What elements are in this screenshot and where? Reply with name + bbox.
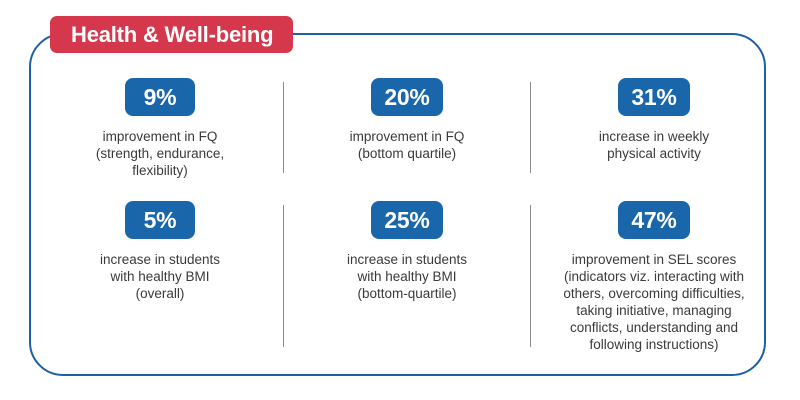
infographic-canvas: Health & Well-being 9% improvement in FQ… (0, 0, 800, 400)
stat-badge: 31% (618, 78, 689, 116)
stat-item-bmi-overall: 5% increase in students with healthy BMI… (44, 195, 276, 353)
stat-caption: improvement in FQ (strength, endurance, … (96, 128, 224, 179)
section-title-pill: Health & Well-being (50, 16, 293, 53)
stat-item-bmi-bottom-quartile: 25% increase in students with healthy BM… (291, 195, 523, 353)
section-title-text: Health & Well-being (71, 24, 273, 46)
stat-caption: improvement in FQ (bottom quartile) (350, 128, 465, 162)
stat-value: 31% (631, 86, 676, 109)
stat-item-weekly-physical-activity: 31% increase in weekly physical activity (538, 72, 770, 179)
stat-badge: 5% (125, 201, 195, 239)
stat-item-fq-overall: 9% improvement in FQ (strength, enduranc… (44, 72, 276, 179)
stat-badge: 9% (125, 78, 195, 116)
column-divider (530, 205, 531, 347)
stat-caption: increase in weekly physical activity (599, 128, 709, 162)
stat-value: 9% (144, 86, 177, 109)
stat-badge: 20% (371, 78, 442, 116)
stat-value: 5% (144, 209, 177, 232)
stat-item-fq-bottom-quartile: 20% improvement in FQ (bottom quartile) (291, 72, 523, 179)
column-divider (283, 82, 284, 173)
column-divider (530, 82, 531, 173)
stat-caption: increase in students with healthy BMI (b… (347, 251, 467, 302)
stat-value: 25% (384, 209, 429, 232)
stat-caption: increase in students with healthy BMI (o… (100, 251, 220, 302)
statistics-grid: 9% improvement in FQ (strength, enduranc… (44, 72, 756, 353)
stat-caption: improvement in SEL scores (indicators vi… (563, 251, 744, 353)
stat-item-sel-scores: 47% improvement in SEL scores (indicator… (538, 195, 770, 353)
stat-badge: 47% (618, 201, 689, 239)
column-divider (283, 205, 284, 347)
stat-value: 47% (631, 209, 676, 232)
stat-badge: 25% (371, 201, 442, 239)
stat-value: 20% (384, 86, 429, 109)
